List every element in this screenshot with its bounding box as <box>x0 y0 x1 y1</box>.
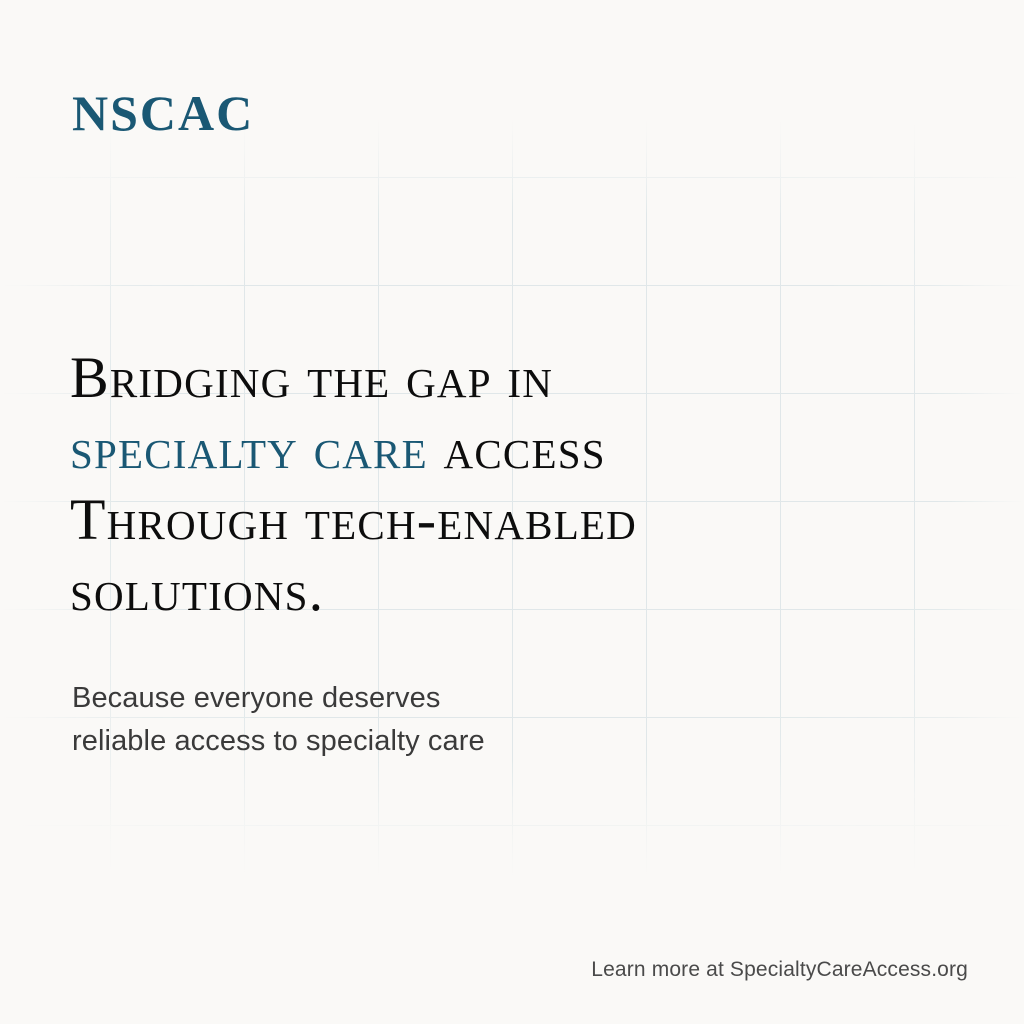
headline-line-1: Bridging the gap in <box>70 342 960 413</box>
subheading: Because everyone deserves reliable acces… <box>72 677 712 763</box>
headline-line-1-text: Bridging the gap in <box>70 345 553 410</box>
poster-content: NSCAC Bridging the gap in specialty care… <box>0 0 1024 1024</box>
subheading-line-2: reliable access to specialty care <box>72 720 712 763</box>
headline-line-3-text: Through tech-enabled <box>70 487 637 552</box>
headline-line-2: specialty care access <box>70 413 960 484</box>
poster-canvas: NSCAC Bridging the gap in specialty care… <box>0 0 1024 1024</box>
headline-line-4-text: solutions. <box>70 558 324 623</box>
brand-logo-nscac: NSCAC <box>72 87 254 140</box>
subheading-line-1: Because everyone deserves <box>72 677 712 720</box>
footer-learn-more-note: Learn more at SpecialtyCareAccess.org <box>591 958 968 982</box>
headline-line-2-rest: access <box>428 416 606 481</box>
headline-line-4: solutions. <box>70 555 960 626</box>
headline-line-3: Through tech-enabled <box>70 484 960 555</box>
headline: Bridging the gap in specialty care acces… <box>70 342 960 626</box>
headline-accent-specialty-care: specialty care <box>70 416 428 481</box>
